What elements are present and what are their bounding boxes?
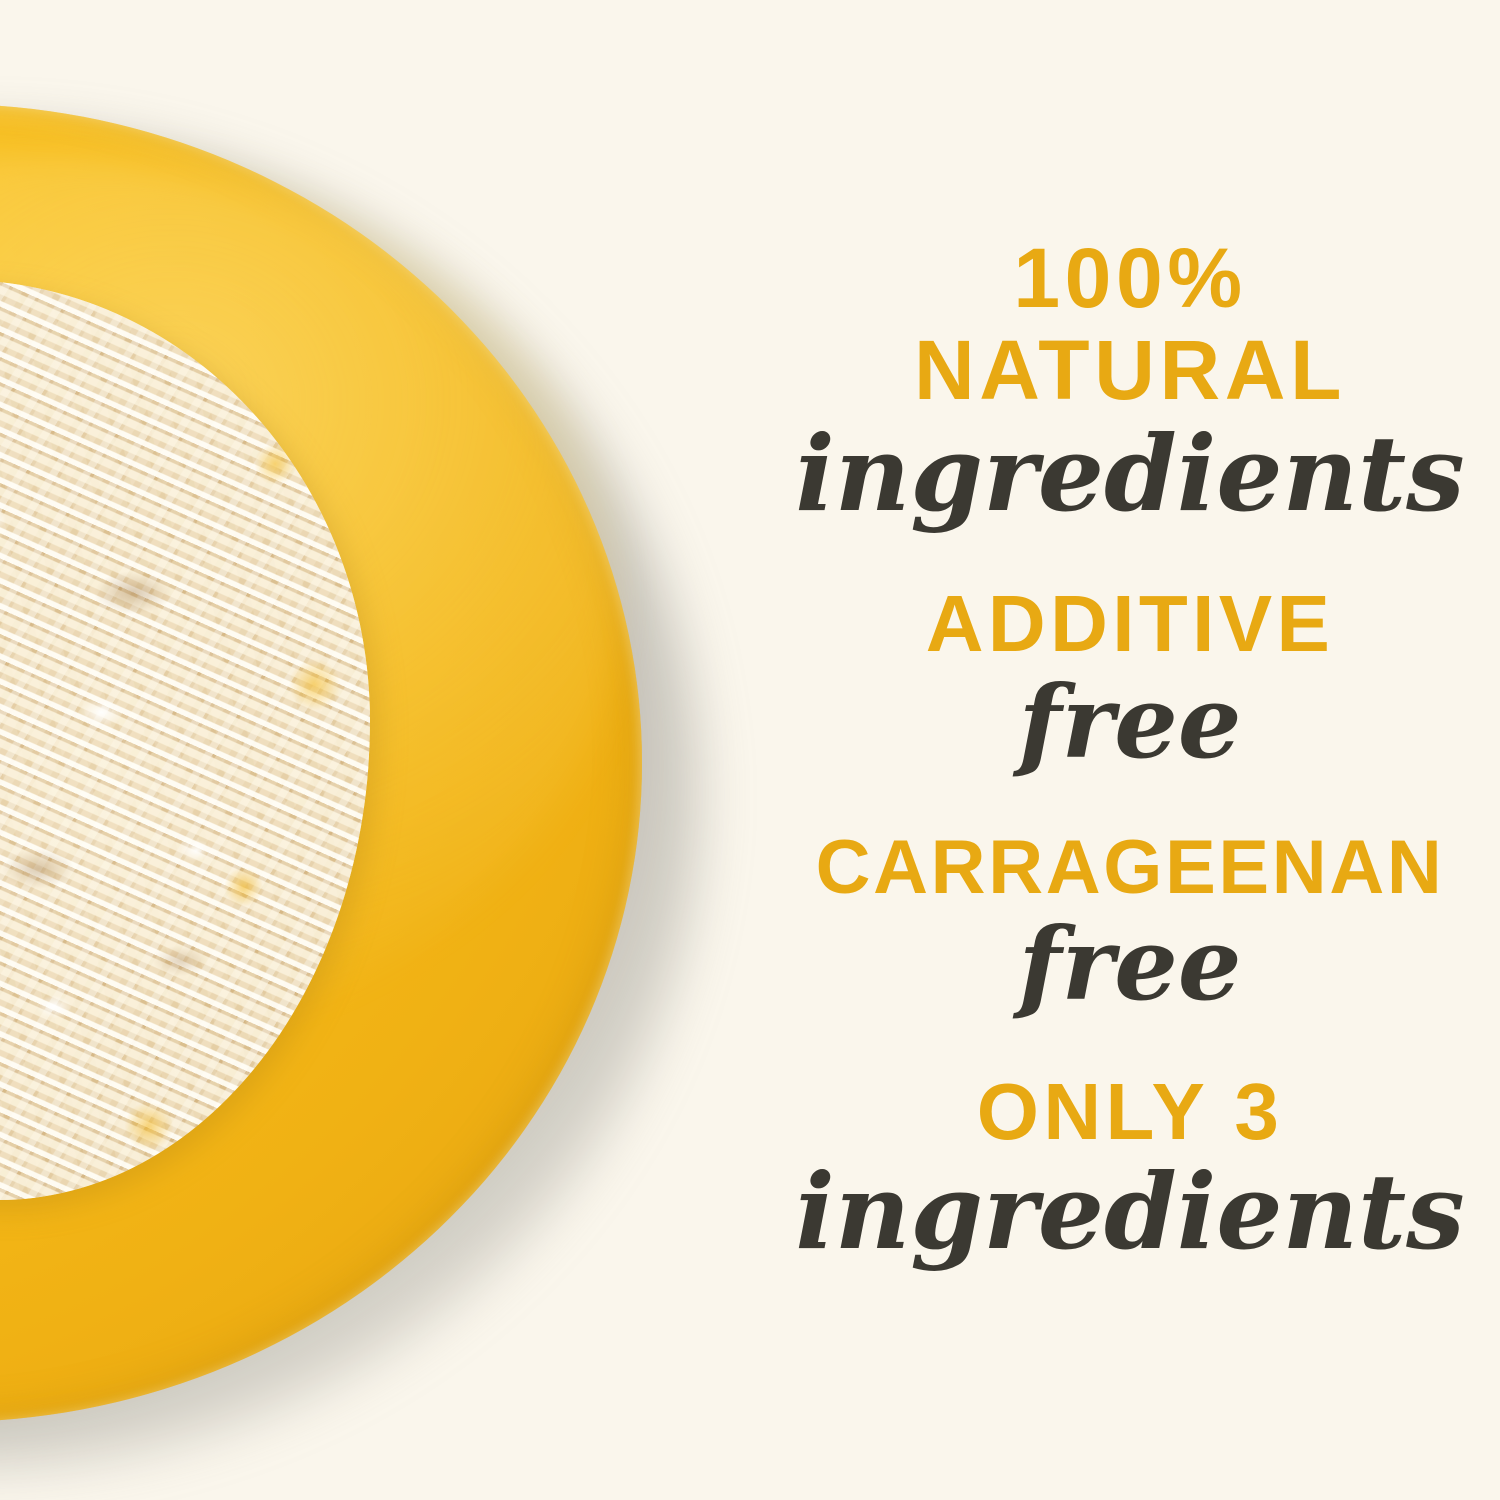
claim-natural-script: ingredients	[760, 422, 1500, 526]
claim-additive-script: free	[760, 672, 1500, 772]
shredded-chicken-mound	[0, 280, 370, 1200]
claim-carrageenan-script: free	[760, 914, 1500, 1014]
claims-list: 100% NATURAL ingredients ADDITIVE free C…	[760, 0, 1500, 1500]
claim-only3-headline: ONLY 3	[760, 1072, 1500, 1152]
claim-natural-headline: 100% NATURAL	[760, 236, 1500, 412]
claim-only3: ONLY 3 ingredients	[760, 1072, 1500, 1264]
product-claims-graphic: 100% NATURAL ingredients ADDITIVE free C…	[0, 0, 1500, 1500]
claim-only3-script: ingredients	[760, 1160, 1500, 1264]
food-white-chunks	[0, 280, 370, 1200]
claim-natural-headline-line2: NATURAL	[760, 328, 1500, 412]
food-photo	[0, 0, 760, 1500]
claim-additive: ADDITIVE free	[760, 584, 1500, 772]
claim-carrageenan: CARRAGEENAN free	[760, 830, 1500, 1014]
claim-carrageenan-headline: CARRAGEENAN	[760, 830, 1500, 906]
claim-natural: 100% NATURAL ingredients	[760, 236, 1500, 526]
claim-natural-headline-line1: 100%	[760, 236, 1500, 320]
claim-additive-headline: ADDITIVE	[760, 584, 1500, 664]
